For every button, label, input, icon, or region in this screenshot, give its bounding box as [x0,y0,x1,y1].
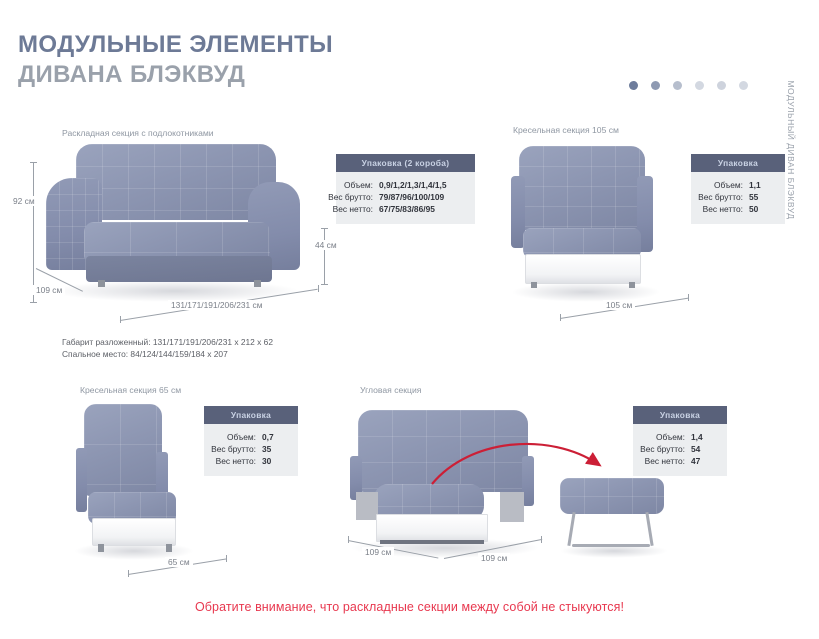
dimension-tick [321,284,328,285]
spec-table-armchair-105: Упаковка Объем: 1,1 Вес брутто: 55 Вес н… [691,154,785,224]
spec-row: Вес нетто: 67/75/83/86/95 [344,203,465,215]
caption-corner-section: Угловая секция [360,385,421,395]
dimension-label-width-105: 105 см [603,300,635,310]
spec-label: Вес брутто: [640,443,685,455]
dimension-tick [226,555,227,562]
spec-value: 47 [691,455,717,467]
spec-table-corner-section: Упаковка Объем: 1,4 Вес брутто: 54 Вес н… [633,406,727,476]
spec-row: Вес брутто: 54 [641,443,717,455]
spec-label: Объем: [344,179,373,191]
dimension-tick [688,294,689,301]
spec-value: 67/75/83/86/95 [379,203,465,215]
spec-row: Вес брутто: 35 [212,443,288,455]
dimension-tick [30,302,37,303]
caption-folding-section: Раскладная секция с подлокотниками [62,128,214,138]
spec-row: Объем: 1,4 [641,431,717,443]
dimension-label-depth: 109 см [33,285,65,295]
dimension-label-corner-right: 109 см [478,553,510,563]
dimension-label-height: 92 см [10,196,38,206]
spec-table-armchair-65: Упаковка Объем: 0,7 Вес брутто: 35 Вес н… [204,406,298,476]
spec-table-header: Упаковка [204,406,298,424]
dimension-tick [30,162,37,163]
pagination-dot[interactable] [739,81,748,90]
spec-table-body: Объем: 0,9/1,2/1,3/1,4/1,5 Вес брутто: 7… [336,172,475,224]
spec-value: 79/87/96/100/109 [379,191,465,203]
page-title-line-1: МОДУЛЬНЫЕ ЭЛЕМЕНТЫ [18,30,333,60]
dimension-label-width: 131/171/191/206/231 см [168,300,265,310]
spec-value: 1,4 [691,431,717,443]
spec-table-body: Объем: 0,7 Вес брутто: 35 Вес нетто: 30 [204,424,298,476]
spec-row: Объем: 0,9/1,2/1,3/1,4/1,5 [344,179,465,191]
spec-label: Вес нетто: [703,203,743,215]
spec-label: Вес нетто: [645,455,685,467]
transfer-arrow-icon [430,432,620,504]
spec-value: 0,9/1,2/1,3/1,4/1,5 [379,179,465,191]
spec-table-header: Упаковка (2 короба) [336,154,475,172]
illustration-armchair-65 [70,400,200,560]
footer-warning-text: Обратите внимание, что раскладные секции… [0,600,819,614]
caption-armchair-65: Кресельная секция 65 см [80,385,181,395]
spec-label: Вес брутто: [698,191,743,203]
spec-row: Вес нетто: 30 [212,455,288,467]
pagination-dot[interactable] [629,81,638,90]
spec-value: 50 [749,203,775,215]
spec-row: Объем: 0,7 [212,431,288,443]
spec-row: Вес брутто: 55 [699,191,775,203]
spec-row: Вес нетто: 47 [641,455,717,467]
spec-row: Вес нетто: 50 [699,203,775,215]
spec-label: Объем: [227,431,256,443]
spec-table-header: Упаковка [691,154,785,172]
dimension-tick [348,536,349,543]
note-sleeping-area: Спальное место: 84/124/144/159/184 x 207 [62,348,228,360]
dimension-label-corner-left: 109 см [362,547,394,557]
spec-label: Объем: [656,431,685,443]
pagination-dots[interactable] [629,81,748,90]
pagination-dot[interactable] [717,81,726,90]
spec-row: Вес брутто: 79/87/96/100/109 [344,191,465,203]
spec-table-body: Объем: 1,4 Вес брутто: 54 Вес нетто: 47 [633,424,727,476]
caption-armchair-105: Кресельная секция 105 см [513,125,619,135]
spec-value: 30 [262,455,288,467]
dimension-label-width-65: 65 см [165,557,193,567]
spec-value: 1,1 [749,179,775,191]
catalog-page: МОДУЛЬНЫЕ ЭЛЕМЕНТЫ ДИВАНА БЛЭКВУД МОДУЛЬ… [0,0,819,639]
spec-label: Вес нетто: [333,203,373,215]
spec-label: Вес брутто: [211,443,256,455]
spec-value: 35 [262,443,288,455]
spec-value: 54 [691,443,717,455]
dimension-tick [120,316,121,323]
dimension-label-seat-height: 44 см [312,240,340,250]
vertical-brand-label: МОДУЛЬНЫЙ ДИВАН БЛЭКВУД [786,70,796,230]
illustration-armchair-105 [505,142,665,302]
dimension-tick [321,228,328,229]
spec-value: 55 [749,191,775,203]
pagination-dot[interactable] [651,81,660,90]
dimension-tick [128,570,129,577]
spec-label: Объем: [714,179,743,191]
spec-table-header: Упаковка [633,406,727,424]
dimension-tick [541,536,542,543]
note-overall-dimensions: Габарит разложенный: 131/171/191/206/231… [62,336,273,348]
pagination-dot[interactable] [673,81,682,90]
illustration-folding-sofa [40,140,310,300]
spec-table-body: Объем: 1,1 Вес брутто: 55 Вес нетто: 50 [691,172,785,224]
spec-table-folding-section: Упаковка (2 короба) Объем: 0,9/1,2/1,3/1… [336,154,475,224]
dimension-line-height [33,162,34,302]
page-title: МОДУЛЬНЫЕ ЭЛЕМЕНТЫ ДИВАНА БЛЭКВУД [18,30,333,90]
dimension-tick [318,285,319,292]
pagination-dot[interactable] [695,81,704,90]
dimension-line-seat-height [324,228,325,284]
spec-label: Вес брутто: [328,191,373,203]
spec-value: 0,7 [262,431,288,443]
spec-label: Вес нетто: [216,455,256,467]
dimension-tick [560,314,561,321]
page-title-line-2: ДИВАНА БЛЭКВУД [18,60,333,90]
spec-row: Объем: 1,1 [699,179,775,191]
